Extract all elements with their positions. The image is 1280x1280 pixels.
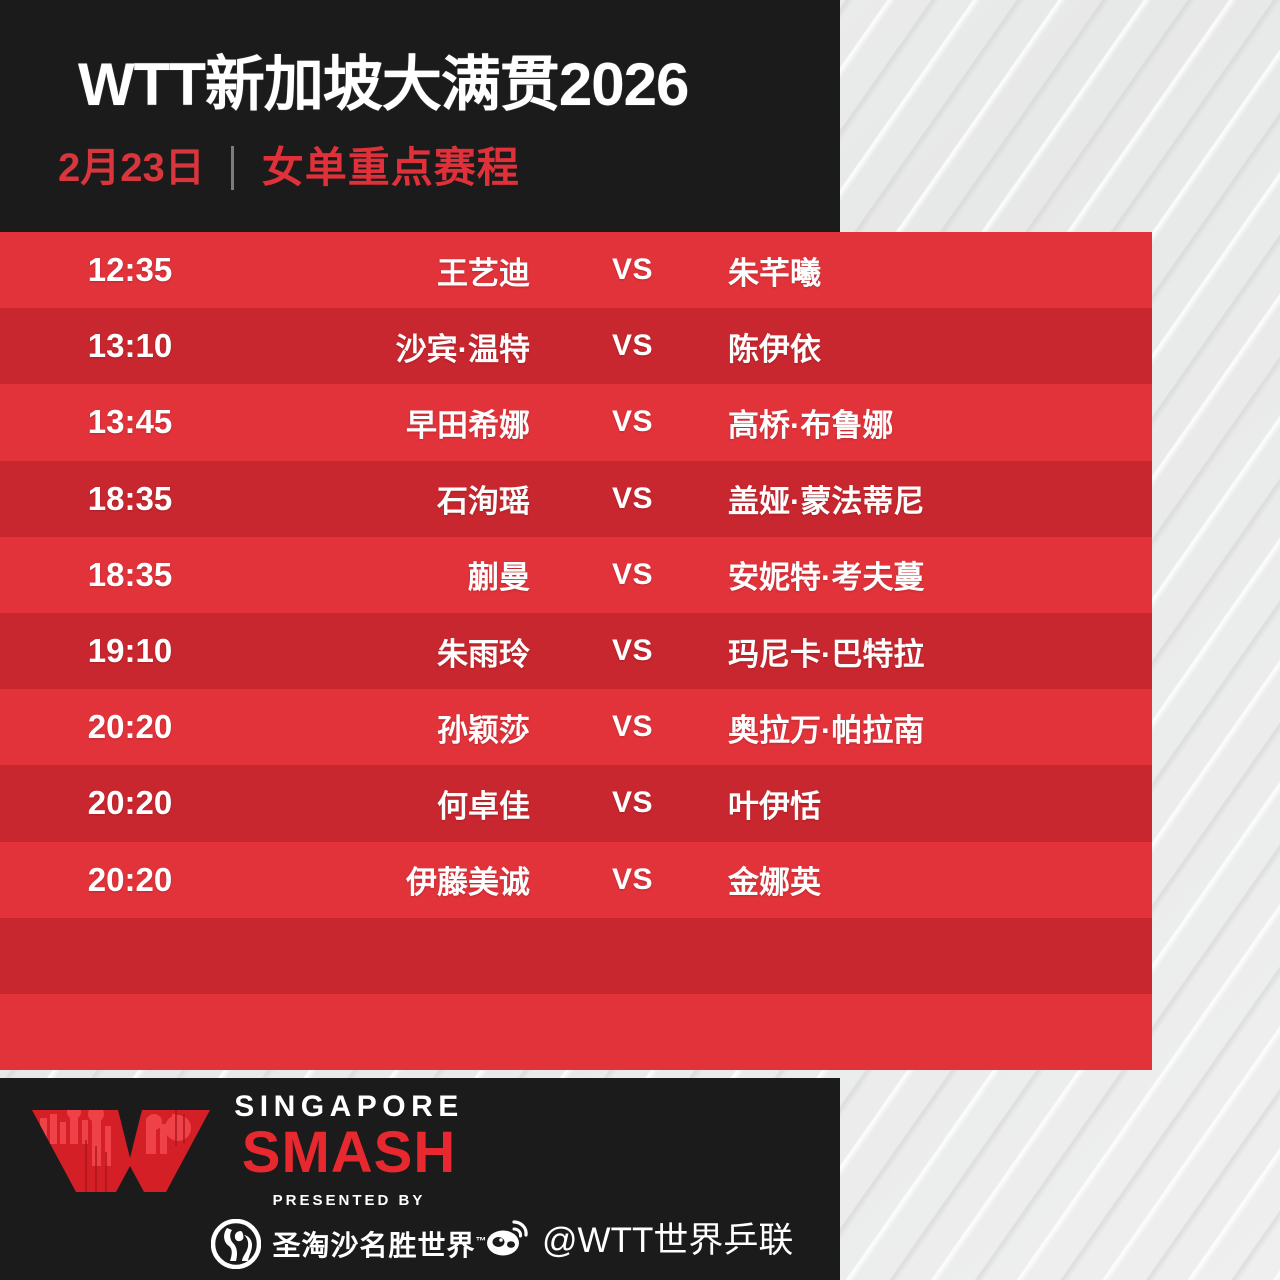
match-time: 20:20 bbox=[0, 708, 260, 746]
sponsor-name-text: 圣淘沙名胜世界 bbox=[273, 1230, 476, 1261]
smash-w-icon bbox=[26, 1100, 216, 1200]
player-two-name: 朱芊曦 bbox=[728, 248, 1148, 293]
table-row: 20:20孙颖莎VS奥拉万·帕拉南 bbox=[0, 689, 1152, 765]
table-row: 19:10朱雨玲VS玛尼卡·巴特拉 bbox=[0, 613, 1152, 689]
vs-label: VS bbox=[575, 405, 690, 439]
match-time: 18:35 bbox=[0, 480, 260, 518]
table-row: 13:45早田希娜VS高桥·布鲁娜 bbox=[0, 384, 1152, 460]
player-two-name: 安妮特·考夫蔓 bbox=[728, 552, 1148, 597]
vs-label: VS bbox=[575, 329, 690, 363]
event-name-label: SMASH bbox=[242, 1123, 456, 1184]
vs-label: VS bbox=[575, 253, 690, 287]
match-time: 20:20 bbox=[0, 784, 260, 822]
subtitle-date: 2月23日 bbox=[58, 148, 231, 188]
table-row: 18:35蒯曼VS安妮特·考夫蔓 bbox=[0, 537, 1152, 613]
player-two-name: 金娜英 bbox=[728, 857, 1148, 902]
match-time: 13:45 bbox=[0, 403, 260, 441]
table-row: 12:35王艺迪VS朱芊曦 bbox=[0, 232, 1152, 308]
match-time: 19:10 bbox=[0, 632, 260, 670]
weibo-handle: @WTT世界乒联 bbox=[542, 1212, 793, 1263]
player-two-name: 高桥·布鲁娜 bbox=[728, 400, 1148, 445]
player-two-name: 盖娅·蒙法蒂尼 bbox=[728, 476, 1148, 521]
player-one-name: 伊藤美诚 bbox=[260, 857, 530, 902]
schedule-panel: 12:35王艺迪VS朱芊曦13:10沙宾·温特VS陈伊依13:45早田希娜VS高… bbox=[0, 232, 1152, 1078]
subtitle-category: 女单重点赛程 bbox=[234, 147, 520, 189]
table-row: 20:20何卓佳VS叶伊恬 bbox=[0, 765, 1152, 841]
player-one-name: 何卓佳 bbox=[260, 781, 530, 826]
player-one-name: 王艺迪 bbox=[260, 248, 530, 293]
player-one-name: 孙颖莎 bbox=[260, 705, 530, 750]
match-time: 13:10 bbox=[0, 327, 260, 365]
vs-label: VS bbox=[575, 786, 690, 820]
poster-canvas: WTT新加坡大满贯2026 2月23日 女单重点赛程 12:35王艺迪VS朱芊曦… bbox=[0, 0, 1280, 1280]
player-one-name: 沙宾·温特 bbox=[260, 324, 530, 369]
vs-label: VS bbox=[575, 482, 690, 516]
table-row-empty bbox=[0, 994, 1152, 1070]
player-two-name: 玛尼卡·巴特拉 bbox=[728, 629, 1148, 674]
vs-label: VS bbox=[575, 634, 690, 668]
resorts-world-icon bbox=[211, 1219, 261, 1269]
player-two-name: 陈伊依 bbox=[728, 324, 1148, 369]
match-time: 20:20 bbox=[0, 861, 260, 899]
smash-logo: SINGAPORE SMASH PRESENTED BY 圣淘沙名胜世界™ bbox=[224, 1092, 474, 1269]
match-time: 12:35 bbox=[0, 251, 260, 289]
player-one-name: 早田希娜 bbox=[260, 400, 530, 445]
page-title: WTT新加坡大满贯2026 bbox=[78, 55, 688, 115]
player-one-name: 朱雨玲 bbox=[260, 629, 530, 674]
table-row: 18:35石洵瑶VS盖娅·蒙法蒂尼 bbox=[0, 461, 1152, 537]
table-row: 20:20伊藤美诚VS金娜英 bbox=[0, 842, 1152, 918]
vs-label: VS bbox=[575, 710, 690, 744]
event-city-label: SINGAPORE bbox=[224, 1092, 474, 1122]
sponsor-lockup: 圣淘沙名胜世界™ bbox=[224, 1219, 474, 1269]
player-two-name: 奥拉万·帕拉南 bbox=[728, 705, 1148, 750]
sponsor-name: 圣淘沙名胜世界™ bbox=[273, 1224, 488, 1264]
weibo-watermark: @WTT世界乒联 bbox=[486, 1212, 793, 1263]
table-row: 13:10沙宾·温特VS陈伊依 bbox=[0, 308, 1152, 384]
player-one-name: 蒯曼 bbox=[260, 552, 530, 597]
match-time: 18:35 bbox=[0, 556, 260, 594]
vs-label: VS bbox=[575, 863, 690, 897]
table-row-empty bbox=[0, 918, 1152, 994]
vs-label: VS bbox=[575, 558, 690, 592]
presented-by-label: PRESENTED BY bbox=[224, 1193, 474, 1208]
weibo-icon bbox=[486, 1218, 530, 1258]
player-one-name: 石洵瑶 bbox=[260, 476, 530, 521]
subtitle: 2月23日 女单重点赛程 bbox=[58, 146, 520, 190]
player-two-name: 叶伊恬 bbox=[728, 781, 1148, 826]
header-band: WTT新加坡大满贯2026 2月23日 女单重点赛程 bbox=[0, 0, 840, 232]
